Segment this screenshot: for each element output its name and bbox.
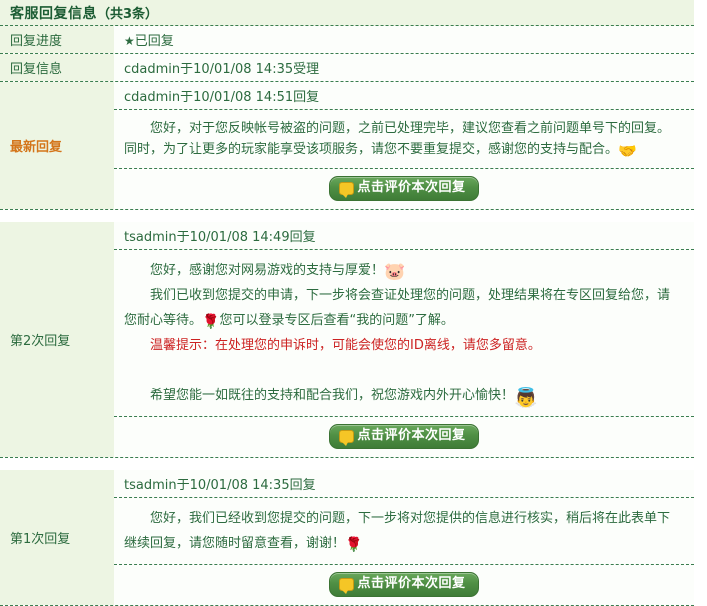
evaluate-reply-button[interactable]: 点击评价本次回复 (329, 572, 478, 597)
panel-title-bar: 客服回复信息（共3条） (0, 0, 694, 26)
reply-line-2: 我们已收到您提交的申请，下一步将会查证处理您的问题，处理结果将在专区回复给您，请… (124, 283, 676, 333)
reply-line-1-text: 您好，感谢您对网易游戏的支持与厚爱！ (150, 263, 384, 278)
section-gap (0, 458, 694, 470)
reply-line-4: 希望您能一如既往的支持和配合我们，祝您游戏内外开心愉快！👼 (124, 383, 676, 408)
rose-emoji: 🌹 (345, 537, 362, 553)
reply-info-label: 回复信息 (0, 54, 114, 81)
customer-service-reply-page: 客服回复信息（共3条） 回复进度 ★已回复 回复信息 cdadmin于10/01… (0, 0, 707, 593)
reply-block-1: 第1次回复 tsadmin于10/01/08 14:35回复 您好，我们已经收到… (0, 470, 694, 606)
reply-head-latest: cdadmin于10/01/08 14:51回复 (114, 82, 694, 110)
reply-line-1: 您好，感谢您对网易游戏的支持与厚爱！🐷 (124, 258, 676, 283)
section-gap (0, 210, 694, 222)
star-icon: ★ (124, 34, 135, 48)
speech-bubble-icon (339, 578, 354, 591)
reply-blank-line (124, 358, 676, 383)
reply-action-latest: 点击评价本次回复 (114, 169, 694, 209)
reply-label-1: 第1次回复 (0, 470, 114, 605)
reply-label-latest: 最新回复 (0, 82, 114, 209)
reply-line-3-text: 您可以登录专区后查看“我的问题”了解。 (219, 313, 453, 328)
reply-main-latest: cdadmin于10/01/08 14:51回复 您好，对于您反映帐号被盗的问题… (114, 82, 694, 209)
evaluate-reply-button[interactable]: 点击评价本次回复 (329, 424, 478, 449)
reply-count: （共3条） (97, 7, 158, 22)
evaluate-reply-button[interactable]: 点击评价本次回复 (329, 176, 478, 201)
reply-main-1: tsadmin于10/01/08 14:35回复 您好，我们已经收到您提交的问题… (114, 470, 694, 605)
speech-bubble-icon (339, 430, 354, 443)
reply-progress-label: 回复进度 (0, 26, 114, 53)
evaluate-reply-button-label: 点击评价本次回复 (357, 576, 465, 592)
reply-progress-value: ★已回复 (114, 26, 694, 53)
reply-text-1: 您好，我们已经收到您提交的问题，下一步将对您提供的信息进行核实，稍后将在此表单下… (114, 498, 694, 565)
reply-warning-text: 温馨提示：在处理您的申诉时，可能会使您的ID离线，请您多留意。 (150, 338, 541, 353)
reply-label-2: 第2次回复 (0, 222, 114, 457)
rose-emoji: 🌹 (202, 314, 219, 330)
reply-line-4-text: 希望您能一如既往的支持和配合我们，祝您游戏内外开心愉快！ (150, 388, 514, 403)
evaluate-reply-button-label: 点击评价本次回复 (357, 180, 465, 196)
reply-main-2: tsadmin于10/01/08 14:49回复 您好，感谢您对网易游戏的支持与… (114, 222, 694, 457)
page-title: 客服回复信息 (10, 6, 97, 22)
reply-block-2: 第2次回复 tsadmin于10/01/08 14:49回复 您好，感谢您对网易… (0, 222, 694, 458)
reply-block-latest: 最新回复 cdadmin于10/01/08 14:51回复 您好，对于您反映帐号… (0, 82, 694, 210)
reply-panel: 客服回复信息（共3条） 回复进度 ★已回复 回复信息 cdadmin于10/01… (0, 0, 694, 606)
reply-text-latest: 您好，对于您反映帐号被盗的问题，之前已处理完毕，建议您查看之前问题单号下的回复。… (114, 110, 694, 169)
angel-balloon-emoji: 👼 (514, 387, 538, 409)
handshake-emoji: 🤝 (618, 142, 637, 160)
reply-action-1: 点击评价本次回复 (114, 565, 694, 605)
reply-info-value: cdadmin于10/01/08 14:35受理 (114, 54, 694, 81)
reply-paragraph: 您好，对于您反映帐号被盗的问题，之前已处理完毕，建议您查看之前问题单号下的回复。… (124, 121, 670, 157)
evaluate-reply-button-label: 点击评价本次回复 (357, 428, 465, 444)
reply-head-1: tsadmin于10/01/08 14:35回复 (114, 470, 694, 498)
reply-paragraph: 您好，我们已经收到您提交的问题，下一步将对您提供的信息进行核实，稍后将在此表单下… (124, 511, 670, 551)
reply-head-2: tsadmin于10/01/08 14:49回复 (114, 222, 694, 250)
reply-info-row: 回复信息 cdadmin于10/01/08 14:35受理 (0, 54, 694, 82)
pig-emoji: 🐷 (384, 262, 405, 282)
reply-progress-row: 回复进度 ★已回复 (0, 26, 694, 54)
reply-action-2: 点击评价本次回复 (114, 417, 694, 457)
speech-bubble-icon (339, 182, 354, 195)
reply-warning-line: 温馨提示：在处理您的申诉时，可能会使您的ID离线，请您多留意。 (124, 333, 676, 358)
reply-progress-text: 已回复 (135, 34, 174, 49)
reply-text-2: 您好，感谢您对网易游戏的支持与厚爱！🐷 我们已收到您提交的申请，下一步将会查证处… (114, 250, 694, 417)
